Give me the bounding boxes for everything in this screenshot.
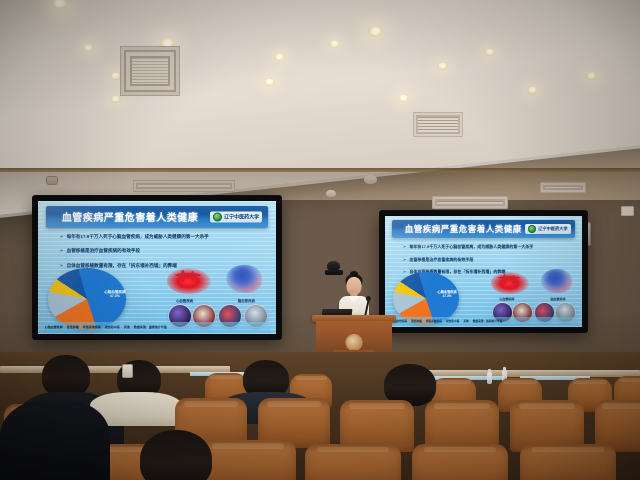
legend-item: 损伤和中毒	[446, 319, 459, 323]
audience-person-head	[42, 355, 90, 397]
bullet-item: ➢ 血管移植是治疗血管疾病的有效手段	[59, 248, 264, 254]
illustration-caption: 心血管疾病	[176, 298, 193, 303]
legend-item: 损伤和中毒	[105, 325, 120, 329]
legend-item: 数据来源：国家统计年鉴	[473, 319, 503, 323]
ceiling-light-icon	[274, 53, 285, 61]
seat	[305, 444, 401, 480]
wall-top-trim	[0, 168, 640, 172]
slide-legend-right: 心脑血管疾病 恶性肿瘤 呼吸系统疾病 损伤和中毒 其他 数据来源：国家统计年鉴	[389, 317, 578, 326]
water-bottle	[487, 372, 492, 384]
ceiling-light-icon	[368, 26, 383, 37]
slide-left: 血管疾病严重危害着人类健康 辽宁中医药大学 ➢ 每年有17.9千万人死于心脑血管…	[38, 201, 276, 334]
legend-item: 恶性肿瘤	[67, 325, 79, 329]
projection-screen-left: 血管疾病严重危害着人类健康 辽宁中医药大学 ➢ 每年有17.9千万人死于心脑血管…	[33, 196, 281, 339]
legend-item: 其他	[463, 319, 468, 323]
university-name: 辽宁中医药大学	[224, 213, 259, 220]
illustration-caption: 心血管疾病	[499, 297, 514, 301]
bullet-marker-icon: ➢	[59, 234, 63, 240]
slide-title-bar-right: 血管疾病严重危害着人类健康 辽宁中医药大学	[392, 220, 575, 238]
brain-vessels-illustration	[541, 269, 572, 293]
legend-item: 恶性肿瘤	[411, 319, 422, 323]
slide-title: 血管疾病严重危害着人类健康	[405, 223, 522, 235]
university-logo-left: 辽宁中医药大学	[210, 211, 262, 222]
ceiling-light-icon	[484, 48, 495, 56]
bullet-marker-icon: ➢	[59, 248, 63, 254]
ceiling-light-icon	[329, 40, 340, 48]
auditorium-photo: 血管疾病严重危害着人类健康 辽宁中医药大学 ➢ 每年有17.9千万人死于心脑血管…	[0, 0, 640, 480]
slide-right: 血管疾病严重危害着人类健康 辽宁中医药大学 ➢ 每年有17.9千万人死于心脑血管…	[385, 216, 582, 327]
university-seal-icon	[213, 212, 222, 221]
pie-chart-left: 心脑血管疾病47.3%	[48, 268, 153, 327]
audience-person-head-front	[140, 430, 212, 480]
ceiling-light-icon	[110, 95, 121, 103]
slide-title-bar-left: 血管疾病严重危害着人类健康 辽宁中医药大学	[46, 206, 267, 227]
ceiling-light-icon	[398, 94, 409, 102]
bullet-item: ➢ 血管移植是治疗血管疾病的有效手段	[403, 257, 572, 263]
ceiling-light-icon	[83, 44, 94, 52]
bullet-item: ➢ 每年有17.9千万人死于心脑血管疾病，成为威胁人类健康的第一大杀手	[59, 234, 264, 240]
legend-item: 心脑血管疾病	[45, 325, 63, 329]
ceiling-air-vent	[413, 112, 463, 137]
seat	[200, 440, 296, 480]
ceiling-light-icon	[527, 86, 538, 94]
wall-ptz-camera-icon	[325, 261, 343, 277]
podium-front-panel	[316, 321, 392, 351]
heart-vessels-illustration	[167, 268, 211, 294]
university-name: 辽宁中医药大学	[538, 226, 567, 232]
pie-chart-right: 心脑血管疾病47.3%	[393, 272, 476, 321]
illustration-caption: 脑血管疾病	[238, 298, 255, 303]
screen-bezel-inner-right: 血管疾病严重危害着人类健康 辽宁中医药大学 ➢ 每年有17.9千万人死于心脑血管…	[385, 216, 582, 327]
ceiling-air-vent	[120, 46, 180, 96]
bullet-text: 每年有17.9千万人死于心脑血管疾病，成为威胁人类健康的第一大杀手	[409, 244, 533, 250]
legend-item: 呼吸系统疾病	[83, 325, 101, 329]
legend-item: 其他	[124, 325, 130, 329]
institution-emblem-icon	[347, 335, 362, 350]
pie-center-label: 心脑血管疾病47.3%	[104, 291, 126, 299]
brain-vessels-illustration	[226, 265, 262, 293]
university-seal-icon	[528, 225, 536, 233]
ceiling-light-icon	[586, 72, 597, 80]
hair-clip	[122, 364, 133, 378]
bullet-marker-icon: ➢	[403, 244, 407, 250]
heart-vessels-illustration	[491, 272, 529, 294]
slide-legend-left: 心脑血管疾病 恶性肿瘤 呼吸系统疾病 损伤和中毒 其他 数据来源：国家统计年鉴	[43, 322, 271, 333]
wall-access-plate	[621, 206, 634, 216]
illustration-caption: 脑血管疾病	[550, 297, 565, 301]
seat	[412, 444, 508, 480]
bullet-item: ➢ 每年有17.9千万人死于心脑血管疾病，成为威胁人类健康的第一大杀手	[403, 244, 572, 250]
ceiling-light-icon	[264, 78, 275, 86]
university-logo-right: 辽宁中医药大学	[525, 224, 570, 234]
legend-item: 呼吸系统疾病	[426, 319, 442, 323]
pie-center-label: 心脑血管疾病47.3%	[438, 291, 457, 298]
seat	[520, 444, 616, 480]
camera-mount	[325, 270, 343, 275]
screen-bezel-inner-left: 血管疾病严重危害着人类健康 辽宁中医药大学 ➢ 每年有17.9千万人死于心脑血管…	[38, 201, 276, 334]
audience-person-shoulders	[0, 400, 110, 480]
bullet-text: 每年有17.9千万人死于心脑血管疾病，成为威胁人类健康的第一大杀手	[67, 234, 209, 240]
bullet-text: 血管移植是治疗血管疾病的有效手段	[67, 248, 141, 254]
legend-item: 数据来源：国家统计年鉴	[134, 325, 167, 329]
bullet-marker-icon: ➢	[403, 257, 407, 263]
projection-screen-right: 血管疾病严重危害着人类健康 辽宁中医药大学 ➢ 每年有17.9千万人死于心脑血管…	[380, 211, 587, 332]
slide-title: 血管疾病严重危害着人类健康	[62, 209, 199, 224]
ceiling-light-icon	[437, 62, 448, 70]
bullet-text: 血管移植是治疗血管疾病的有效手段	[409, 257, 473, 263]
